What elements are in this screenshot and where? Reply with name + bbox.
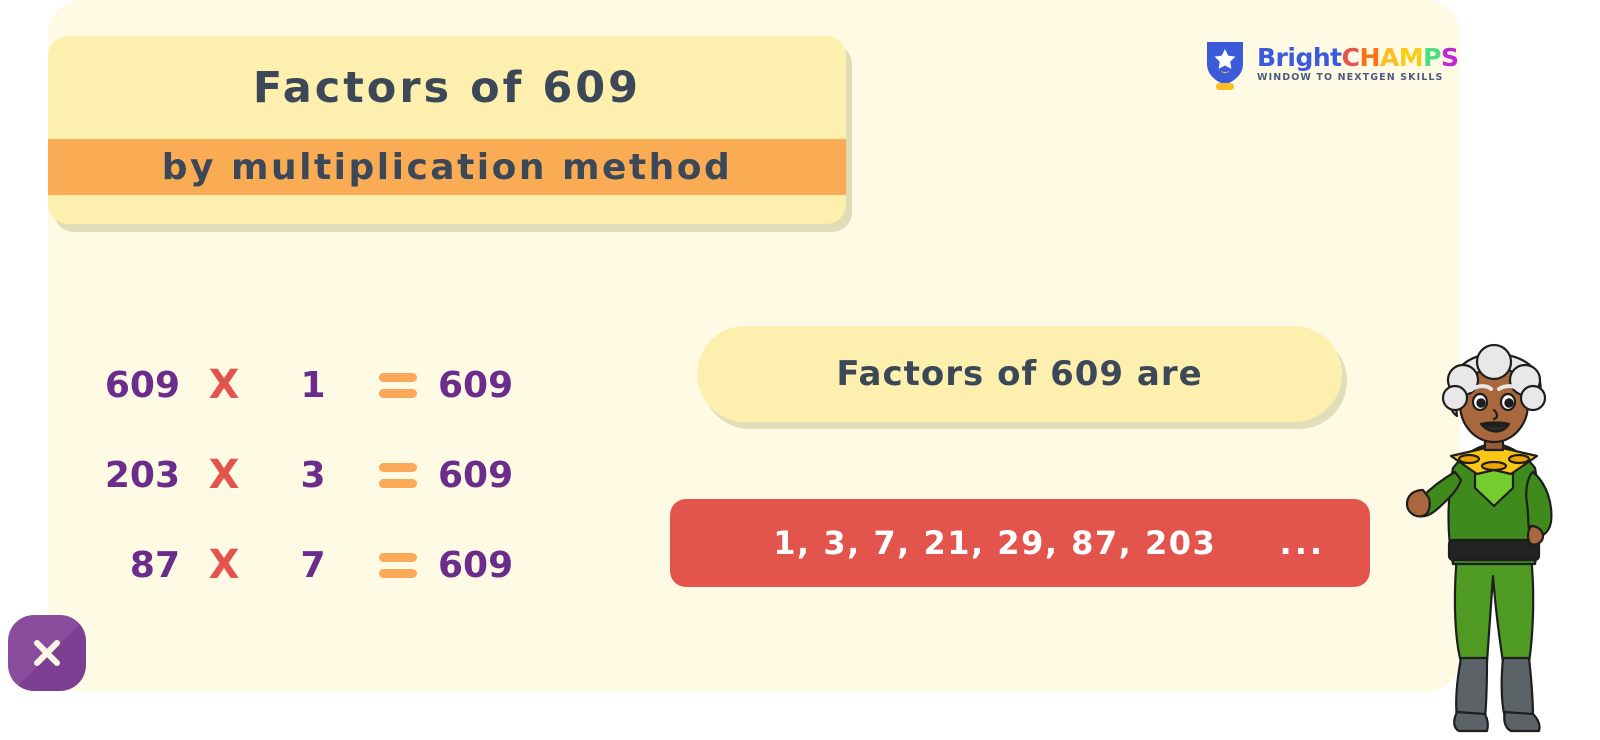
factors-ellipsis: ... xyxy=(1280,524,1370,562)
brand-logo: BrightCHAMPS WINDOW TO NEXTGEN SKILLS xyxy=(1203,38,1459,90)
multiply-icon: X xyxy=(180,362,268,408)
brand-letter-p: P xyxy=(1423,43,1441,72)
brand-letter-c: C xyxy=(1342,43,1360,72)
page-subtitle: by multiplication method xyxy=(162,147,733,188)
factors-bar: 1, 3, 7, 21, 29, 87, 203 ... xyxy=(670,499,1370,587)
teacher-illustration xyxy=(1395,340,1600,740)
equation-result: 609 xyxy=(438,455,548,496)
brand-letter-s: S xyxy=(1441,43,1459,72)
equation-operand-a: 609 xyxy=(85,365,180,406)
multiply-icon: X xyxy=(180,542,268,588)
brand-name: BrightCHAMPS xyxy=(1257,45,1459,70)
brand-letter-m: M xyxy=(1399,43,1423,72)
brand-letter-h: H xyxy=(1359,43,1379,72)
brand-letter-a: A xyxy=(1380,43,1399,72)
equals-icon xyxy=(358,553,438,578)
title-subtitle-band: by multiplication method xyxy=(48,139,846,195)
equation-result: 609 xyxy=(438,365,548,406)
equals-icon xyxy=(358,373,438,398)
result-heading: Factors of 609 are xyxy=(697,326,1342,422)
title-banner: Factors of 609 by multiplication method xyxy=(48,36,846,224)
close-icon xyxy=(27,633,67,673)
shield-star-icon xyxy=(1203,38,1247,90)
equation-operand-a: 203 xyxy=(85,455,180,496)
equation-result: 609 xyxy=(438,545,548,586)
equation-operand-b: 7 xyxy=(268,545,358,586)
equation-row: 87 X 7 609 xyxy=(85,520,565,610)
equation-operand-a: 87 xyxy=(85,545,180,586)
equals-icon xyxy=(358,463,438,488)
page-title: Factors of 609 xyxy=(48,36,846,139)
brand-text: BrightCHAMPS WINDOW TO NEXTGEN SKILLS xyxy=(1257,45,1459,83)
close-button[interactable] xyxy=(8,615,86,691)
multiply-icon: X xyxy=(180,452,268,498)
brand-tagline: WINDOW TO NEXTGEN SKILLS xyxy=(1257,72,1459,83)
equations-list: 609 X 1 609 203 X 3 609 87 X 7 609 xyxy=(85,340,565,610)
brand-name-bright: Bright xyxy=(1257,43,1342,72)
equation-row: 609 X 1 609 xyxy=(85,340,565,430)
equation-operand-b: 3 xyxy=(268,455,358,496)
equation-row: 203 X 3 609 xyxy=(85,430,565,520)
equation-operand-b: 1 xyxy=(268,365,358,406)
factors-values: 1, 3, 7, 21, 29, 87, 203 xyxy=(670,524,1280,562)
